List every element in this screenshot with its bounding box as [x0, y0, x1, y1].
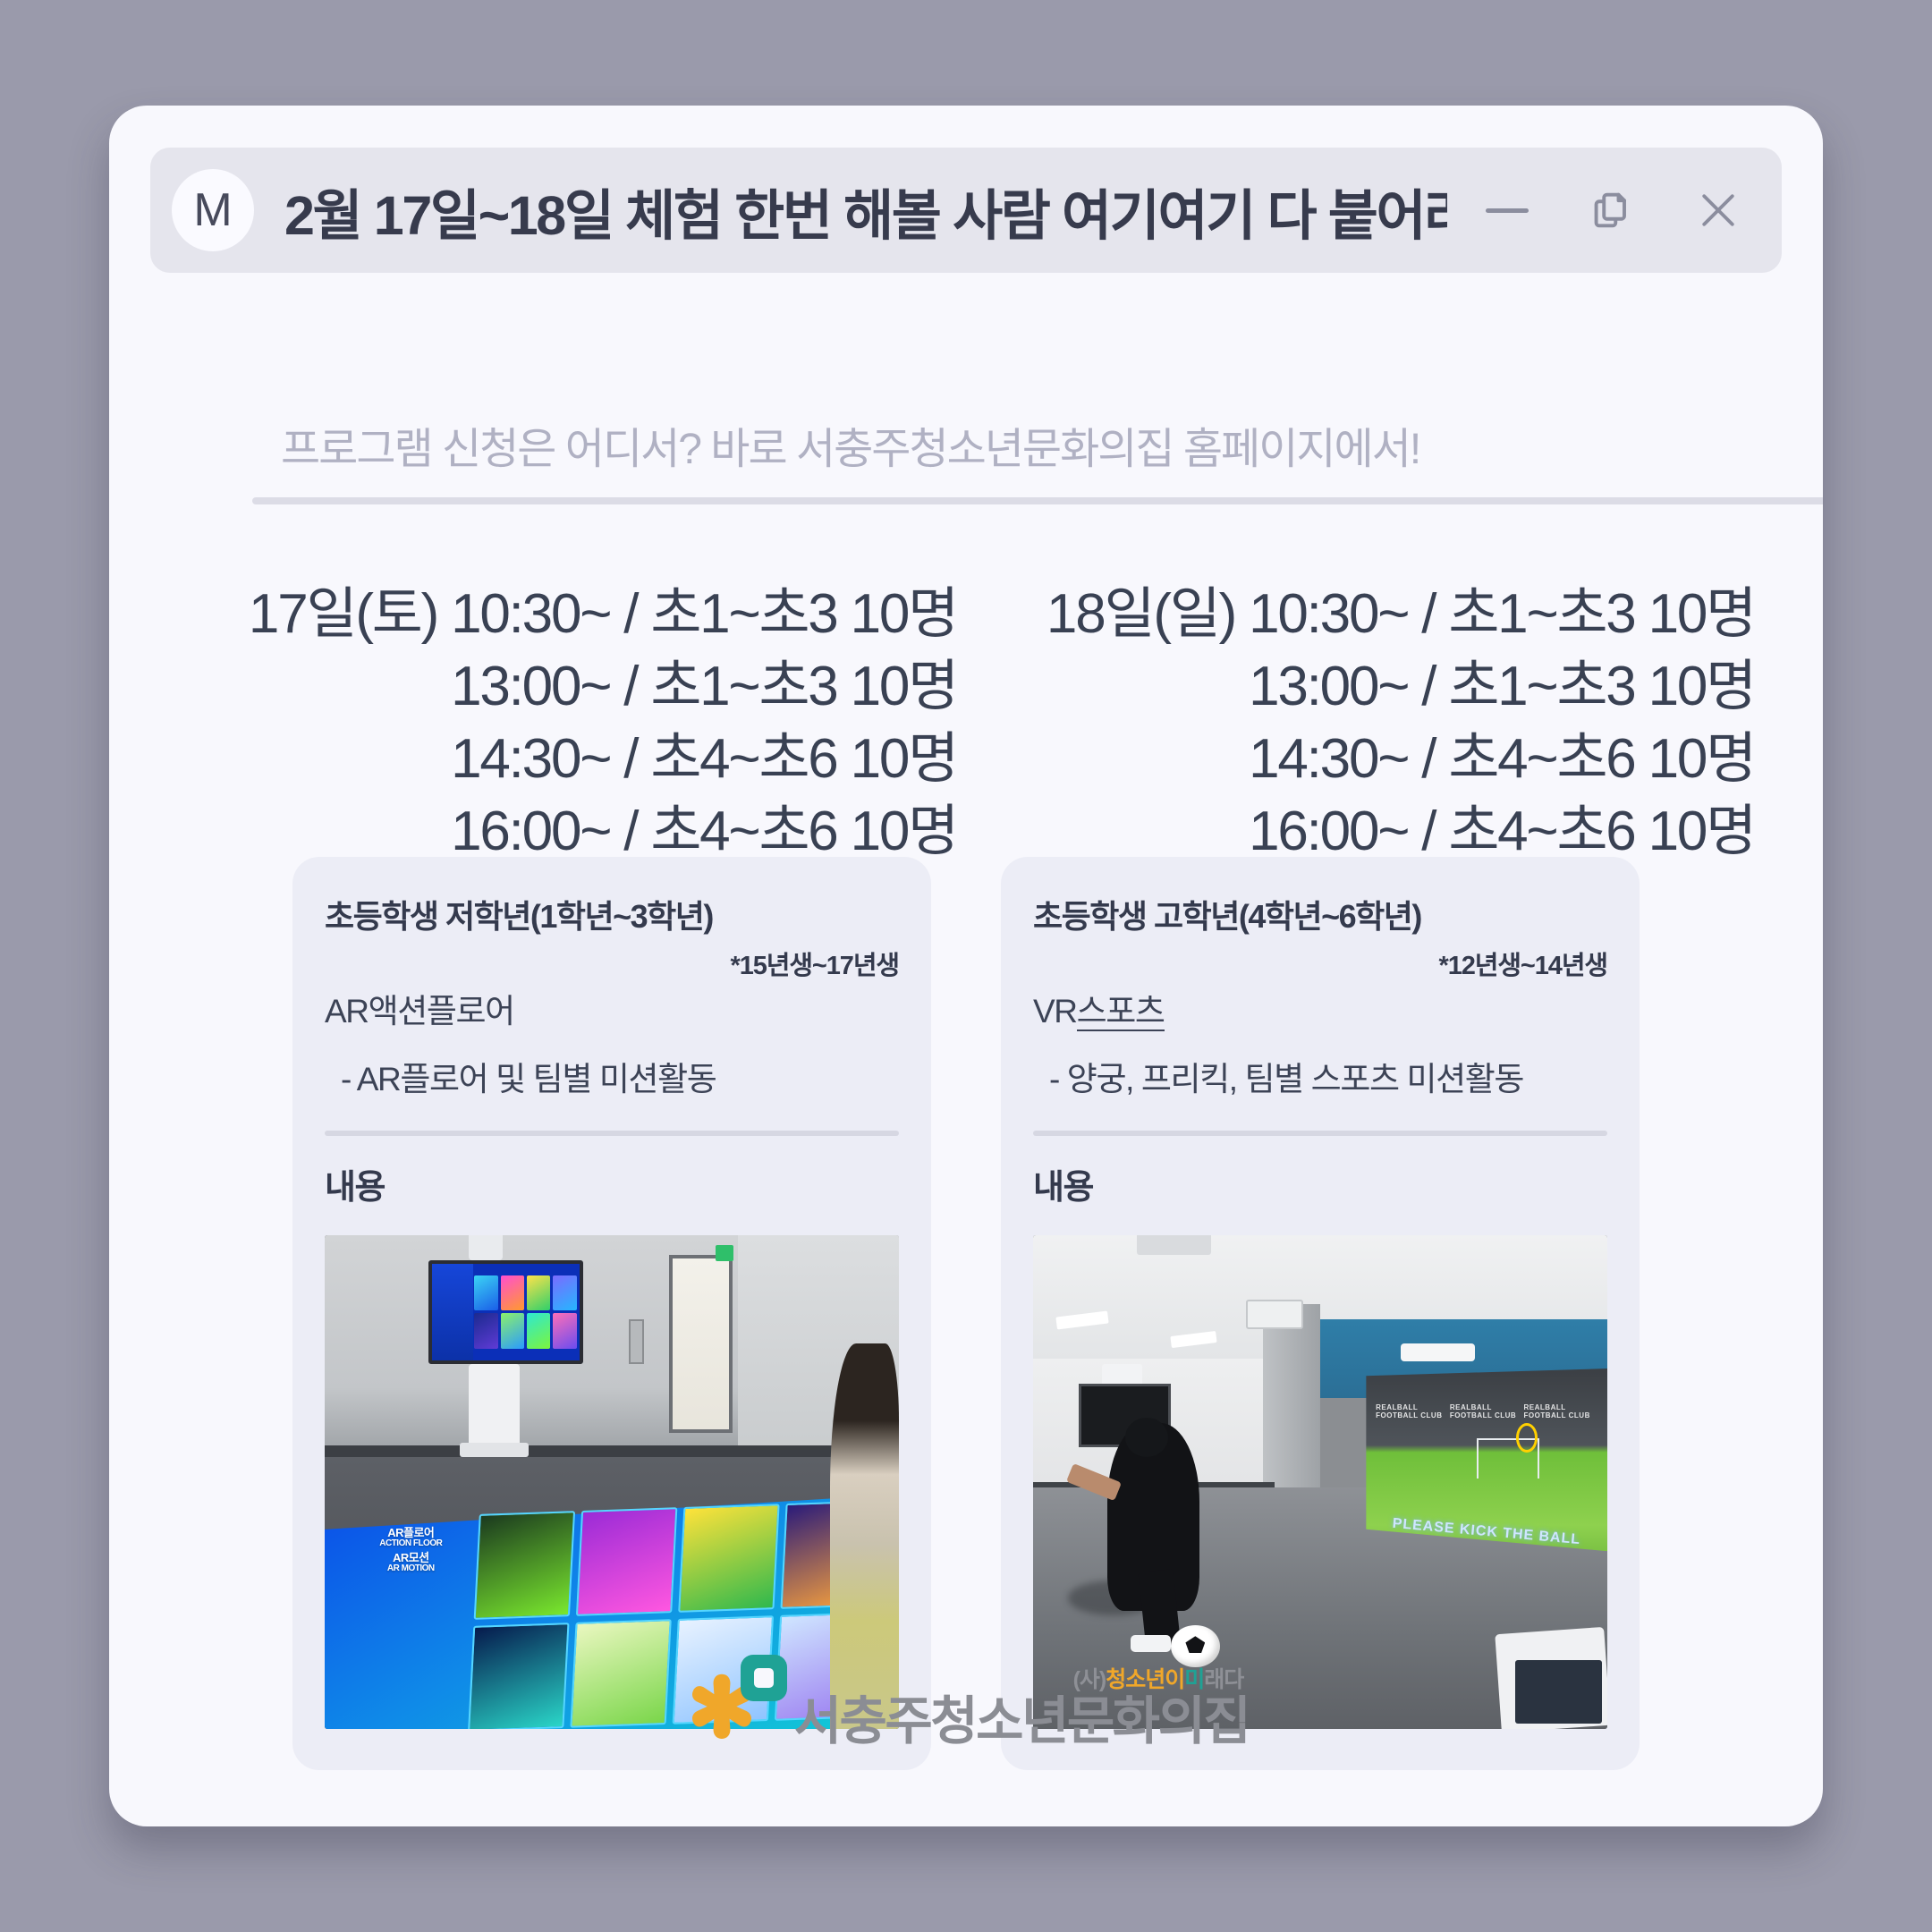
- schedule-line: 17일(토) 10:30~ / 초1~초3 10명: [249, 578, 957, 650]
- close-icon: [1694, 186, 1742, 234]
- program-card-lower-grades: 초등학생 저학년(1학년~3학년) *15년생~17년생 AR액션플로어 - A…: [292, 857, 931, 1770]
- ar-screen-tile: [553, 1313, 576, 1349]
- card-section-label: 내용: [325, 1159, 899, 1208]
- vr-club-label: REALBALL FOOTBALL CLUB: [1524, 1403, 1598, 1419]
- ar-screen-tile: [501, 1275, 524, 1311]
- ar-floor-game-tile: [678, 1504, 780, 1613]
- ar-motion-label-korean: AR모션: [334, 1552, 488, 1564]
- window-subtitle: 프로그램 신청은 어디서? 바로 서충주청소년문화의집 홈페이지에서!: [281, 413, 1419, 476]
- footer-logo-area: (사)청소년이미래다 서충주청소년문화의집: [109, 1655, 1823, 1750]
- schedule-line: 13:00~ / 초1~초3 10명: [451, 650, 957, 723]
- schedule-column-sunday: 18일(일) 10:30~ / 초1~초3 10명 13:00~ / 초1~초3…: [966, 578, 1773, 868]
- vr-club-banner: REALBALL FOOTBALL CLUB REALBALL FOOTBALL…: [1376, 1403, 1597, 1419]
- window-titlebar: M 2월 17일~18일 체험 한번 해볼 사람 여기여기 다 붙어라~!: [150, 148, 1782, 273]
- copy-windows-icon: [1589, 187, 1636, 233]
- vr-air-conditioner: [1401, 1343, 1475, 1360]
- schedule-line: 18일(일) 10:30~ / 초1~초3 10명: [1046, 578, 1755, 650]
- window-controls: [1454, 157, 1771, 263]
- card-program-name-plain: VR: [1033, 993, 1077, 1030]
- logo-tagline-part3: 래다: [1204, 1667, 1243, 1692]
- organization-logo: (사)청소년이미래다 서충주청소년문화의집: [683, 1655, 1250, 1750]
- ar-floor-label-english: ACTION FLOOR: [334, 1539, 488, 1549]
- logo-tagline-part2: 미: [1184, 1667, 1204, 1692]
- exit-sign-icon: [716, 1245, 734, 1261]
- card-program-detail: - 양궁, 프리킥, 팀별 스포츠 미션활동: [1033, 1052, 1607, 1100]
- schedule-section: 17일(토) 10:30~ / 초1~초3 10명 13:00~ / 초1~초3…: [109, 578, 1823, 868]
- organization-name: 서충주청소년문화의집: [794, 1696, 1250, 1748]
- card-divider: [325, 1131, 899, 1136]
- card-title: 초등학생 저학년(1학년~3학년): [325, 891, 899, 937]
- ar-screen-tile: [474, 1275, 497, 1311]
- vr-player-head: [1125, 1418, 1168, 1457]
- minimize-icon: [1486, 208, 1529, 213]
- ar-baseboard: [325, 1445, 899, 1458]
- minimize-button[interactable]: [1454, 157, 1560, 263]
- vr-ball-target-icon: [1516, 1423, 1538, 1453]
- ar-kiosk-stand: [469, 1364, 521, 1448]
- logo-tagline-prefix: (사): [1073, 1667, 1106, 1692]
- card-program-name: VR스포츠: [1033, 984, 1607, 1032]
- schedule-column-saturday: 17일(토) 10:30~ / 초1~초3 10명 13:00~ / 초1~초3…: [159, 578, 966, 868]
- vr-club-label: REALBALL FOOTBALL CLUB: [1450, 1403, 1524, 1419]
- vr-ceiling-projector: [1137, 1235, 1211, 1255]
- ar-door: [669, 1255, 733, 1433]
- schedule-line: 13:00~ / 초1~초3 10명: [1249, 650, 1755, 723]
- vr-ceiling-vent: [1246, 1300, 1303, 1329]
- ar-wall-panel: [629, 1319, 644, 1364]
- card-section-label: 내용: [1033, 1159, 1607, 1208]
- ar-screen-sidebar: [432, 1264, 473, 1360]
- vr-projection-screen: REALBALL FOOTBALL CLUB REALBALL FOOTBALL…: [1366, 1368, 1607, 1551]
- ar-floor-game-tile: [474, 1511, 576, 1620]
- card-program-name: AR액션플로어: [325, 984, 899, 1032]
- ar-screen-tile: [553, 1275, 576, 1311]
- logo-tagline-part1: 청소년이: [1106, 1667, 1184, 1692]
- schedule-line: 14:30~ / 초4~초6 10명: [1249, 723, 1755, 795]
- ar-floor-game-tile: [576, 1507, 678, 1616]
- restore-button[interactable]: [1560, 157, 1665, 263]
- ar-floor-label: AR플로어 ACTION FLOOR AR모션 AR MOTION: [334, 1521, 488, 1610]
- ar-screen-tile: [527, 1313, 550, 1349]
- logo-text: (사)청소년이미래다 서충주청소년문화의집: [794, 1662, 1250, 1748]
- ar-motion-label-english: AR MOTION: [334, 1564, 488, 1574]
- logo-mark: [683, 1655, 787, 1750]
- card-program-detail: - AR플로어 및 팀별 미션활동: [325, 1052, 899, 1100]
- logo-tagline: (사)청소년이미래다: [1073, 1662, 1244, 1694]
- ar-camera-unit: [469, 1235, 504, 1260]
- ar-floor-label-korean: AR플로어: [334, 1527, 488, 1539]
- window-title: 2월 17일~18일 체험 한번 해볼 사람 여기여기 다 붙어라~!: [284, 171, 1447, 250]
- program-card-upper-grades: 초등학생 고학년(4학년~6학년) *12년생~14년생 VR스포츠 - 양궁,…: [1001, 857, 1640, 1770]
- card-title: 초등학생 고학년(4학년~6학년): [1033, 891, 1607, 937]
- close-button[interactable]: [1665, 157, 1771, 263]
- teal-square-icon: [741, 1655, 787, 1701]
- vr-player-shoe: [1131, 1635, 1171, 1652]
- avatar: M: [172, 169, 254, 251]
- header-divider: [252, 497, 1823, 504]
- program-cards: 초등학생 저학년(1학년~3학년) *15년생~17년생 AR액션플로어 - A…: [109, 857, 1823, 1770]
- ar-kiosk-base: [460, 1443, 529, 1458]
- card-program-name-underlined: 스포츠: [1077, 993, 1165, 1031]
- ar-display-screen: [428, 1260, 583, 1364]
- card-birth-year-note: *12년생~14년생: [1033, 945, 1607, 982]
- ar-screen-game-grid: [474, 1275, 576, 1349]
- vr-club-label: REALBALL FOOTBALL CLUB: [1376, 1403, 1450, 1419]
- ar-screen-tile: [527, 1275, 550, 1311]
- ar-screen-tile: [501, 1313, 524, 1349]
- announcement-window: M 2월 17일~18일 체험 한번 해볼 사람 여기여기 다 붙어라~!: [109, 106, 1823, 1826]
- schedule-line: 14:30~ / 초4~초6 10명: [451, 723, 957, 795]
- vr-pillar: [1263, 1304, 1320, 1492]
- card-divider: [1033, 1131, 1607, 1136]
- card-birth-year-note: *15년생~17년생: [325, 945, 899, 982]
- ar-screen-tile: [474, 1313, 497, 1349]
